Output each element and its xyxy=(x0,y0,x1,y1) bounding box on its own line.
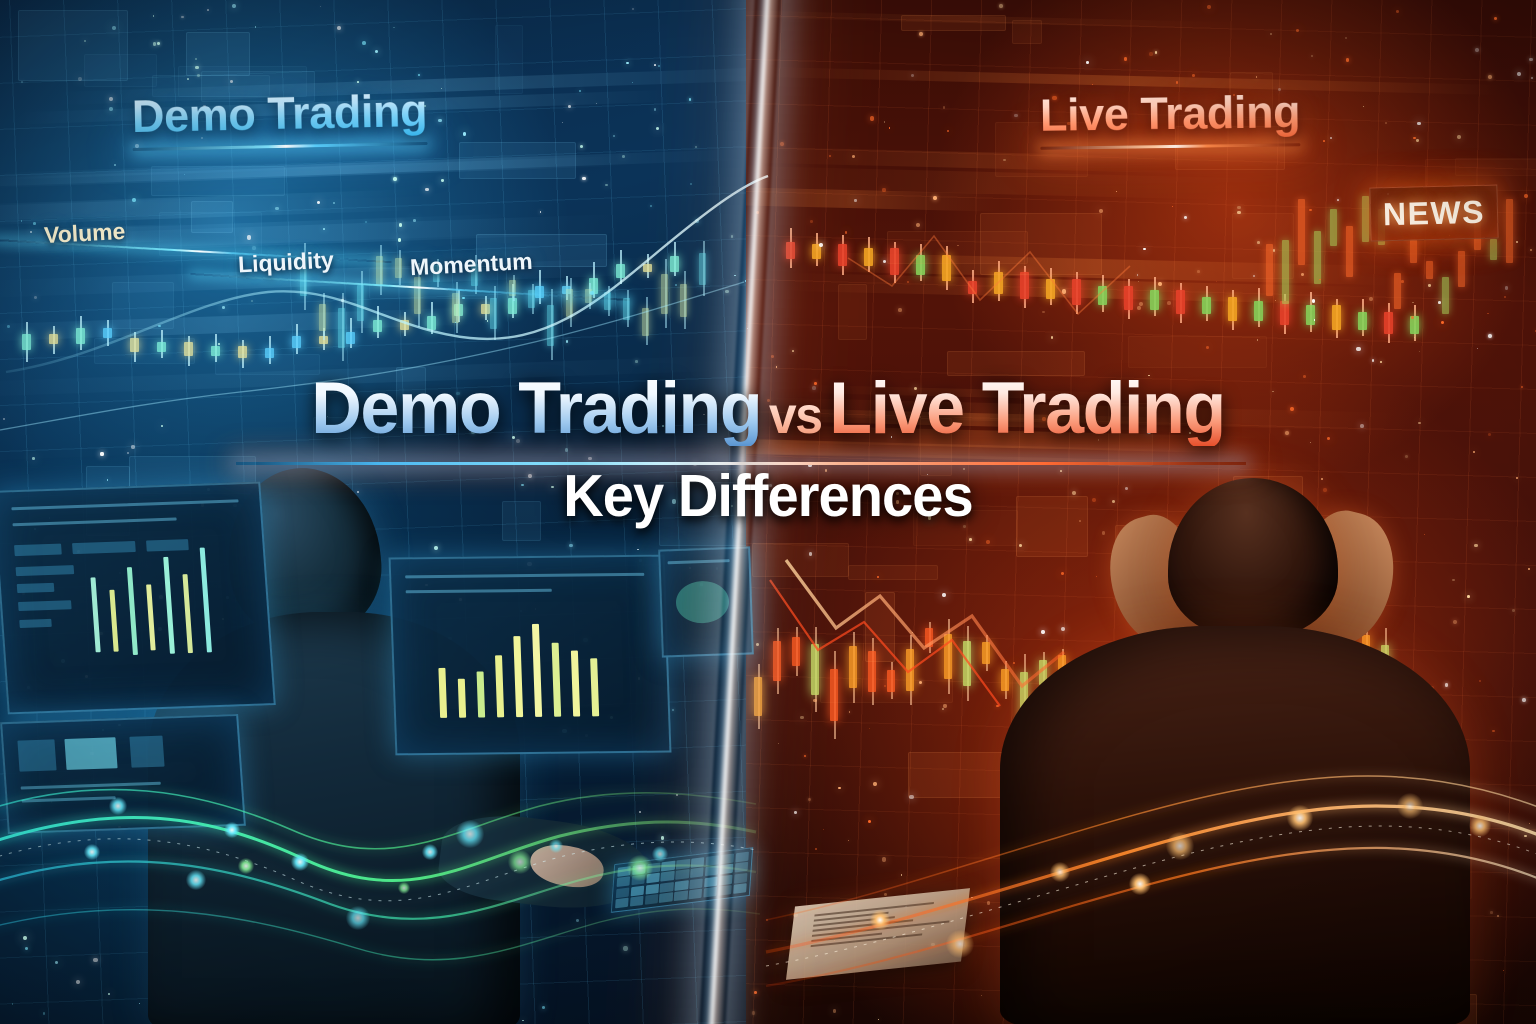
keyboard-key xyxy=(659,892,673,903)
ui-panel xyxy=(838,284,867,340)
candle xyxy=(968,270,977,303)
candle xyxy=(1332,299,1341,339)
glow-spark xyxy=(1050,862,1070,882)
candle xyxy=(1442,277,1449,314)
candle xyxy=(427,302,436,334)
candle xyxy=(1306,292,1315,332)
candle xyxy=(481,296,490,320)
candle xyxy=(812,233,821,266)
candle xyxy=(643,254,652,278)
banner-stage: Demo Trading Live Trading Volume Liquidi… xyxy=(0,0,1536,1024)
keyboard-key xyxy=(631,885,645,896)
keyboard-key xyxy=(645,894,659,905)
title-segment-demo: Demo Trading xyxy=(311,372,761,446)
keyboard-key xyxy=(630,896,644,907)
news-badge-label: NEWS xyxy=(1383,193,1486,232)
ui-panel xyxy=(848,565,938,580)
glow-spark xyxy=(508,850,532,874)
candle xyxy=(1490,239,1497,260)
candle xyxy=(319,293,326,340)
candle xyxy=(1176,283,1185,323)
ui-panel xyxy=(1455,158,1536,176)
candle xyxy=(1394,273,1401,309)
glow-spark xyxy=(627,855,652,880)
keyboard-key xyxy=(674,890,688,901)
glow-spark xyxy=(1129,873,1151,895)
glow-spark xyxy=(346,906,370,930)
candle xyxy=(1254,288,1263,328)
ui-panel xyxy=(112,282,174,329)
candle xyxy=(1202,286,1211,321)
ui-panel xyxy=(1012,20,1041,44)
main-title-subtitle: Key Differences xyxy=(38,462,1497,530)
keyboard-key xyxy=(616,887,630,898)
keyboard-key xyxy=(734,873,748,884)
candle xyxy=(786,228,795,268)
main-title-block: Demo TradingvsLive Trading Key Differenc… xyxy=(0,372,1536,530)
candle xyxy=(49,326,58,354)
title-segment-live: Live Trading xyxy=(829,372,1225,446)
candle xyxy=(1506,199,1513,263)
candle xyxy=(76,316,85,350)
ui-panel xyxy=(901,15,1007,31)
candle xyxy=(1298,199,1305,264)
candle xyxy=(346,318,355,348)
ui-panel xyxy=(495,25,523,93)
candle xyxy=(528,284,535,314)
glow-spark xyxy=(1287,805,1312,830)
title-segment-vs: vs xyxy=(761,390,829,443)
candle xyxy=(1346,226,1353,278)
metric-label-volume: Volume xyxy=(43,218,126,249)
ui-panel xyxy=(1128,336,1267,368)
glow-spark xyxy=(422,844,438,860)
keyboard-key xyxy=(675,869,689,880)
keyboard-key xyxy=(661,871,675,882)
candle xyxy=(623,290,630,327)
candle xyxy=(699,241,706,296)
candle xyxy=(754,664,762,729)
candle xyxy=(547,289,554,359)
candle xyxy=(373,306,382,338)
left-monitor-lower xyxy=(0,714,246,834)
candle xyxy=(1410,239,1417,264)
glow-spark xyxy=(946,930,974,958)
candle xyxy=(792,627,800,676)
keyboard-key xyxy=(660,882,674,893)
keyboard-key xyxy=(645,884,659,895)
glow-spark xyxy=(84,844,100,860)
metric-label-liquidity: Liquidity xyxy=(237,247,334,279)
candle xyxy=(1330,209,1337,246)
candle xyxy=(670,242,679,276)
glow-spark xyxy=(870,910,889,929)
keyboard-key xyxy=(617,877,631,888)
glow-spark xyxy=(652,846,667,861)
keyboard-key xyxy=(661,861,675,872)
news-badge: NEWS xyxy=(1369,184,1498,241)
candle xyxy=(535,270,544,304)
keyboard-key xyxy=(733,883,747,894)
keyboard-key xyxy=(615,898,629,909)
candle xyxy=(1098,275,1107,312)
ui-panel xyxy=(980,213,1102,276)
demo-trading-header: Demo Trading xyxy=(131,85,427,151)
ui-panel xyxy=(84,54,157,87)
candle xyxy=(963,626,971,701)
candle xyxy=(1124,279,1133,319)
candle xyxy=(1001,661,1009,698)
candle xyxy=(357,271,364,333)
candle xyxy=(838,235,847,275)
candle xyxy=(1410,305,1419,340)
glow-spark xyxy=(1469,815,1491,837)
keyboard-key xyxy=(689,889,703,900)
live-trading-header: Live Trading xyxy=(1040,86,1301,150)
keyboard-key xyxy=(675,880,689,891)
keyboard-key xyxy=(734,862,748,873)
keyboard-key xyxy=(735,852,749,863)
candle xyxy=(1150,277,1159,317)
candle xyxy=(1362,196,1369,242)
keyboard-key xyxy=(689,878,703,889)
candle xyxy=(1072,272,1081,314)
keyboard-key xyxy=(691,857,705,868)
candle xyxy=(1384,303,1393,343)
ui-panel xyxy=(459,142,576,179)
main-title-line1: Demo TradingvsLive Trading xyxy=(31,372,1506,446)
candle xyxy=(400,312,409,336)
glow-spark xyxy=(109,797,126,814)
glow-spark xyxy=(1397,793,1423,819)
candle xyxy=(604,286,611,316)
candle xyxy=(1228,290,1237,330)
keyboard-key xyxy=(676,859,690,870)
candle xyxy=(22,322,31,362)
candle xyxy=(642,297,649,345)
ui-panel xyxy=(1232,213,1294,279)
candle xyxy=(661,259,668,328)
ui-panel xyxy=(752,543,849,576)
candle xyxy=(1358,299,1367,336)
candle xyxy=(680,271,687,329)
candle xyxy=(811,627,819,712)
candle xyxy=(1314,231,1321,284)
candle xyxy=(1458,251,1465,287)
ui-panel xyxy=(151,166,285,195)
candle xyxy=(292,324,301,354)
ui-panel xyxy=(820,643,952,704)
candle xyxy=(616,250,625,284)
candle xyxy=(1426,261,1433,279)
demo-trading-header-label: Demo Trading xyxy=(131,85,427,143)
candle xyxy=(773,628,781,695)
candle xyxy=(982,635,990,671)
glow-spark xyxy=(456,820,483,847)
right-trader-body xyxy=(1000,626,1470,1024)
ui-panel xyxy=(94,338,195,364)
left-monitor-chart xyxy=(389,555,672,756)
candle xyxy=(864,237,873,272)
candle xyxy=(338,293,345,361)
live-trading-header-label: Live Trading xyxy=(1040,86,1301,142)
keyboard-key xyxy=(690,868,704,879)
candle xyxy=(509,275,516,301)
candle xyxy=(566,278,573,327)
